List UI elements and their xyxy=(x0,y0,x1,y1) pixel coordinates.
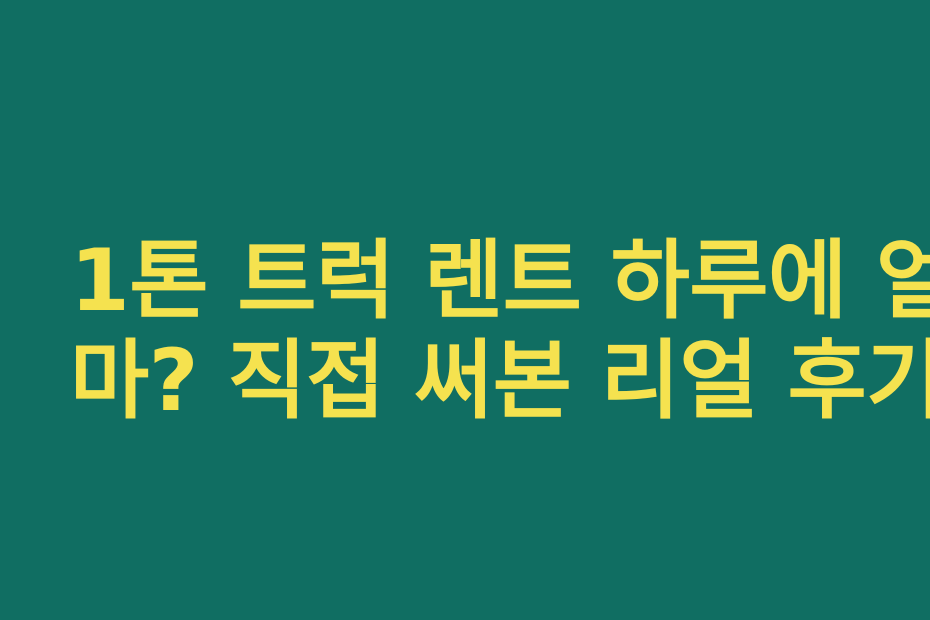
headline-line-2: 마? 직접 써본 리얼 후기 xyxy=(70,331,870,431)
headline-line-1: 1톤 트럭 렌트 하루에 얼 xyxy=(70,231,870,331)
thumbnail-card: 1톤 트럭 렌트 하루에 얼 마? 직접 써본 리얼 후기 xyxy=(0,0,930,620)
headline-text-block: 1톤 트럭 렌트 하루에 얼 마? 직접 써본 리얼 후기 xyxy=(70,231,870,431)
